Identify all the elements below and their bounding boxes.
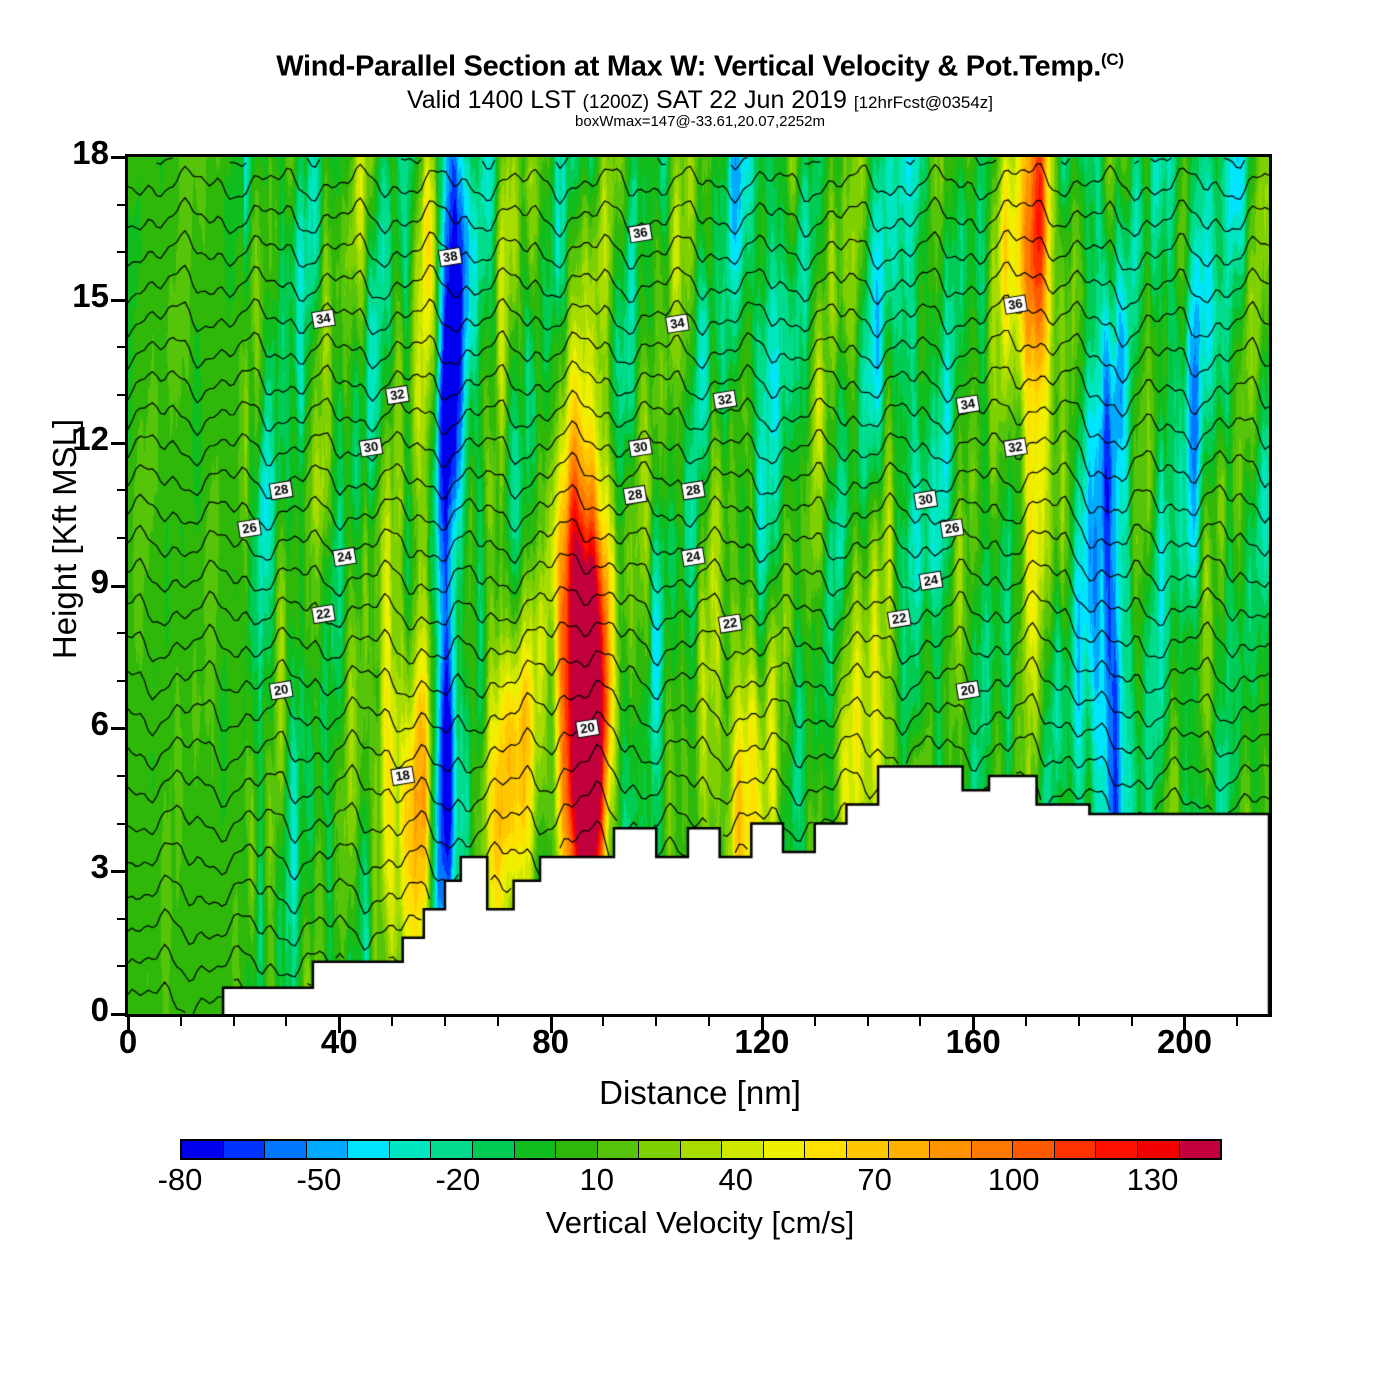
y-axis-title: Height [Kft MSL] [46, 339, 84, 739]
colorbar-cell [182, 1141, 224, 1158]
colorbar-cell [639, 1141, 681, 1158]
x-axis-title: Distance [nm] [0, 1074, 1400, 1112]
colorbar-cell [722, 1141, 764, 1158]
axis-tick-mark [391, 1017, 393, 1026]
colorbar-cell [930, 1141, 972, 1158]
chart-annotation: boxWmax=147@-33.61,20.07,2252m [0, 113, 1400, 130]
axis-tick-mark [867, 1017, 869, 1026]
colorbar-cell [390, 1141, 432, 1158]
axis-tick-mark [117, 489, 125, 491]
axis-tick-mark [550, 1017, 553, 1033]
axis-tick-mark [111, 299, 125, 302]
forecast-tag: [12hrFcst@0354z] [854, 93, 993, 112]
colorbar-cell [473, 1141, 515, 1158]
axis-tick-mark [1183, 1017, 1186, 1033]
colorbar-title: Vertical Velocity [cm/s] [0, 1205, 1400, 1241]
colorbar-cell [805, 1141, 847, 1158]
axis-tick-mark [111, 727, 125, 730]
axis-tick-mark [127, 1017, 130, 1033]
colorbar-cell [265, 1141, 307, 1158]
valid-prefix: Valid 1400 LST [407, 86, 576, 114]
axis-tick-mark [117, 537, 125, 539]
axis-tick-mark [285, 1017, 287, 1026]
colorbar-cell [1096, 1141, 1138, 1158]
colorbar-tick-label: -50 [259, 1162, 379, 1198]
colorbar [180, 1139, 1222, 1160]
colorbar-cell [556, 1141, 598, 1158]
axis-tick-mark [655, 1017, 657, 1026]
axis-tick-mark [117, 680, 125, 682]
colorbar-cell [1138, 1141, 1180, 1158]
axis-tick-mark [338, 1017, 341, 1033]
colorbar-cell [1055, 1141, 1097, 1158]
axis-tick-mark [111, 1013, 125, 1016]
axis-tick-mark [117, 204, 125, 206]
axis-tick-mark [444, 1017, 446, 1026]
axis-tick-mark [708, 1017, 710, 1026]
vertical-velocity-field [128, 157, 1269, 1014]
chart-title: Wind-Parallel Section at Max W: Vertical… [0, 50, 1400, 84]
axis-tick-mark [117, 918, 125, 920]
axis-tick-mark [180, 1017, 182, 1026]
axis-tick-mark [1131, 1017, 1133, 1026]
copyright-mark: (C) [1101, 50, 1124, 69]
y-axis-tick-label: 15 [29, 277, 109, 315]
colorbar-tick-label: 10 [537, 1162, 657, 1198]
axis-tick-mark [117, 965, 125, 967]
colorbar-cell [681, 1141, 723, 1158]
colorbar-tick-label: 40 [676, 1162, 796, 1198]
colorbar-cell [889, 1141, 931, 1158]
axis-tick-mark [111, 156, 125, 159]
axis-tick-mark [919, 1017, 921, 1026]
axis-tick-mark [117, 251, 125, 253]
colorbar-cell [847, 1141, 889, 1158]
axis-tick-mark [111, 585, 125, 588]
colorbar-cell [1180, 1141, 1221, 1158]
y-axis-tick-label: 3 [29, 848, 109, 886]
chart-page: Wind-Parallel Section at Max W: Vertical… [0, 0, 1400, 1400]
colorbar-cell [598, 1141, 640, 1158]
chart-subtitle: Valid 1400 LST (1200Z) SAT 22 Jun 2019 [… [0, 86, 1400, 115]
colorbar-cell [224, 1141, 266, 1158]
colorbar-cell [972, 1141, 1014, 1158]
colorbar-cell [515, 1141, 557, 1158]
axis-tick-mark [117, 346, 125, 348]
chart-title-text: Wind-Parallel Section at Max W: Vertical… [276, 51, 1101, 83]
plot-canvas-wrap [128, 157, 1269, 1014]
colorbar-cell [1013, 1141, 1055, 1158]
axis-tick-mark [117, 632, 125, 634]
axis-tick-mark [1025, 1017, 1027, 1026]
axis-tick-mark [814, 1017, 816, 1026]
colorbar-cell [764, 1141, 806, 1158]
cross-section-plot [125, 154, 1272, 1017]
axis-tick-mark [497, 1017, 499, 1026]
axis-tick-mark [117, 823, 125, 825]
colorbar-cell [348, 1141, 390, 1158]
axis-tick-mark [1236, 1017, 1238, 1026]
valid-date: SAT 22 Jun 2019 [656, 86, 847, 114]
colorbar-tick-label: 70 [815, 1162, 935, 1198]
axis-tick-mark [1078, 1017, 1080, 1026]
axis-tick-mark [111, 442, 125, 445]
axis-tick-mark [972, 1017, 975, 1033]
axis-tick-mark [117, 394, 125, 396]
colorbar-tick-label: 100 [954, 1162, 1074, 1198]
colorbar-tick-label: 130 [1093, 1162, 1213, 1198]
colorbar-tick-label: -20 [398, 1162, 518, 1198]
y-axis-tick-label: 18 [29, 134, 109, 172]
valid-utc: (1200Z) [583, 92, 650, 113]
colorbar-cell [307, 1141, 349, 1158]
axis-tick-mark [233, 1017, 235, 1026]
axis-tick-mark [602, 1017, 604, 1026]
axis-tick-mark [117, 775, 125, 777]
colorbar-cell [431, 1141, 473, 1158]
axis-tick-mark [761, 1017, 764, 1033]
axis-tick-mark [111, 870, 125, 873]
colorbar-tick-label: -80 [120, 1162, 240, 1198]
